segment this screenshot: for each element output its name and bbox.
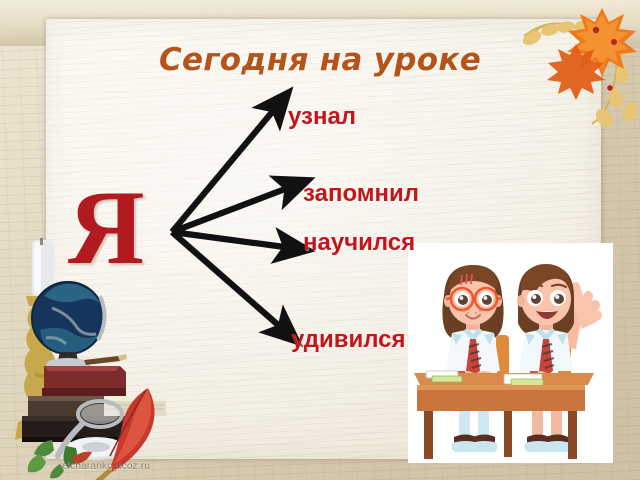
site-watermark: elcharanko.ucoz.ru (62, 461, 150, 472)
branch-label-nauchilsya: научился (303, 229, 415, 257)
page-title: Сегодня на уроке (0, 42, 640, 78)
branch-label-udivilsya: удивился (291, 326, 406, 354)
slide-canvas: Сегодня на уроке Я узнал запомнил научил… (0, 0, 640, 480)
branch-label-zapomnil: запомнил (303, 180, 419, 208)
branch-label-uznal: узнал (288, 103, 356, 131)
